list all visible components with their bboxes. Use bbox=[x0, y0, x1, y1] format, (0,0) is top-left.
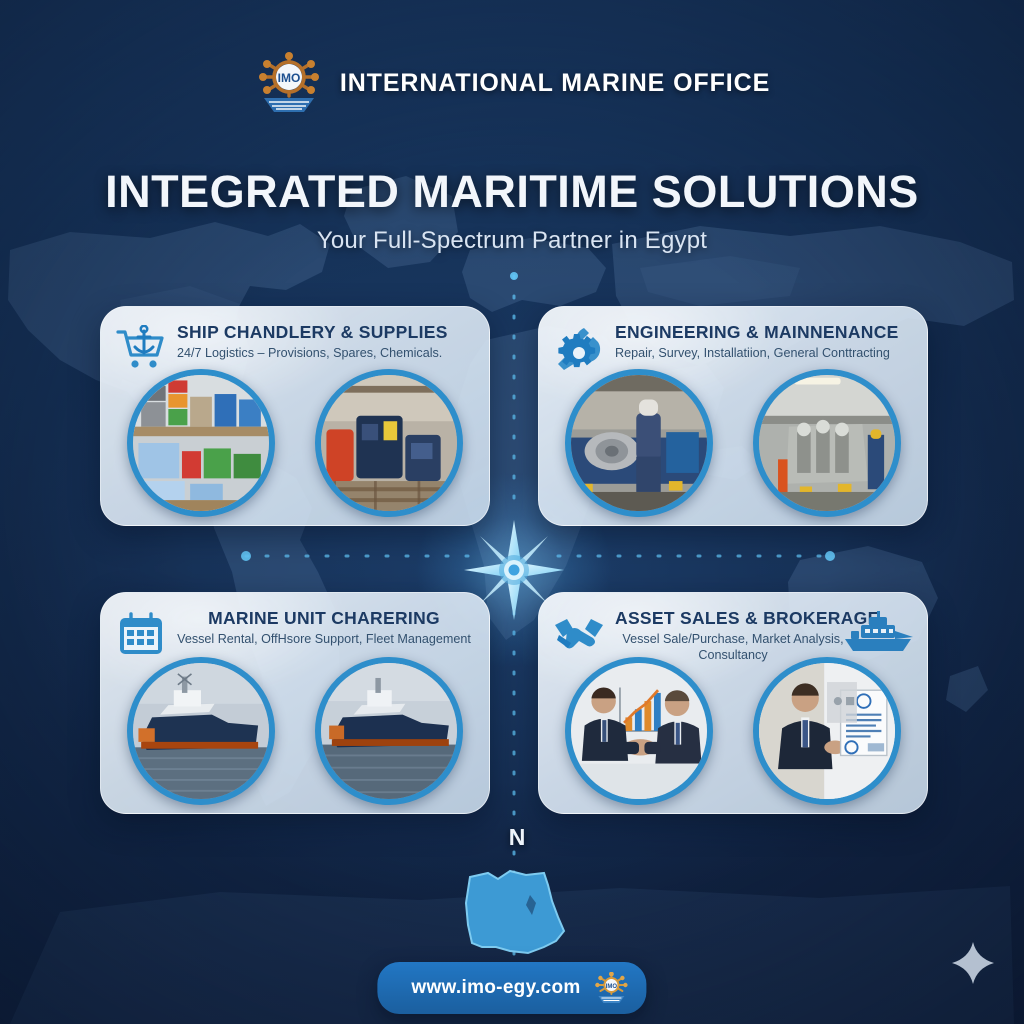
calendar-icon bbox=[115, 611, 167, 657]
infographic-poster: IMO INTERNATIONAL MARINE OFFICE INTEGRAT… bbox=[0, 0, 1024, 1024]
card-description: Repair, Survey, Installatiion, General C… bbox=[615, 346, 909, 362]
card-title: ASSET SALES & BROKERAGE bbox=[615, 609, 851, 628]
service-card-ship-chandlery[interactable]: SHIP CHANDLERY & SUPPLIES 24/7 Logistics… bbox=[100, 306, 490, 526]
locator-block: N bbox=[452, 826, 582, 959]
header: IMO INTERNATIONAL MARINE OFFICE bbox=[0, 52, 1024, 114]
photo-offshore-supply-vessel-1 bbox=[127, 657, 275, 805]
brand-name: INTERNATIONAL MARINE OFFICE bbox=[340, 69, 770, 98]
north-label: N bbox=[452, 826, 582, 849]
wrench-gear-icon bbox=[553, 325, 605, 371]
card-title: SHIP CHANDLERY & SUPPLIES bbox=[177, 323, 471, 342]
brand-logo: IMO bbox=[254, 52, 324, 114]
footer-brand-logo: IMO bbox=[595, 972, 629, 1004]
service-card-asset-sales-brokerage[interactable]: ASSET SALES & BROKERAGE Vessel Sale/Purc… bbox=[538, 592, 928, 814]
page-title: INTEGRATED MARITIME SOLUTIONS bbox=[0, 168, 1024, 215]
photo-marine-engines bbox=[315, 369, 463, 517]
website-url: www.imo-egy.com bbox=[411, 977, 580, 999]
photo-palletized-provisions bbox=[127, 369, 275, 517]
hero-titles: INTEGRATED MARITIME SOLUTIONS Your Full-… bbox=[0, 168, 1024, 255]
egypt-map-icon bbox=[452, 855, 582, 959]
photo-brokers-handshake-chart bbox=[565, 657, 713, 805]
handshake-icon bbox=[553, 611, 605, 657]
photo-offshore-supply-vessel-2 bbox=[315, 657, 463, 805]
card-description: 24/7 Logistics – Provisions, Spares, Che… bbox=[177, 346, 471, 362]
sparkle-icon bbox=[950, 940, 996, 986]
page-subtitle: Your Full-Spectrum Partner in Egypt bbox=[0, 227, 1024, 255]
photo-workshop-engine-repair bbox=[753, 369, 901, 517]
photo-certificate-presentation bbox=[753, 657, 901, 805]
card-description: Vessel Rental, OffHsore Support, Fleet M… bbox=[177, 632, 471, 648]
shopping-cart-anchor-icon bbox=[115, 325, 167, 371]
website-url-pill[interactable]: www.imo-egy.com IMO bbox=[377, 962, 646, 1014]
service-card-marine-unit-chartering[interactable]: MARINE UNIT CHARERING Vessel Rental, Off… bbox=[100, 592, 490, 814]
svg-text:IMO: IMO bbox=[278, 71, 301, 85]
ship-icon bbox=[841, 609, 917, 655]
card-title: ENGINEERING & MAINNENANCE bbox=[615, 323, 909, 342]
card-title: MARINE UNIT CHARERING bbox=[177, 609, 471, 628]
service-card-engineering-maintenance[interactable]: ENGINEERING & MAINNENANCE Repair, Survey… bbox=[538, 306, 928, 526]
svg-text:IMO: IMO bbox=[606, 984, 618, 990]
photo-engineer-turbine-overhaul bbox=[565, 369, 713, 517]
